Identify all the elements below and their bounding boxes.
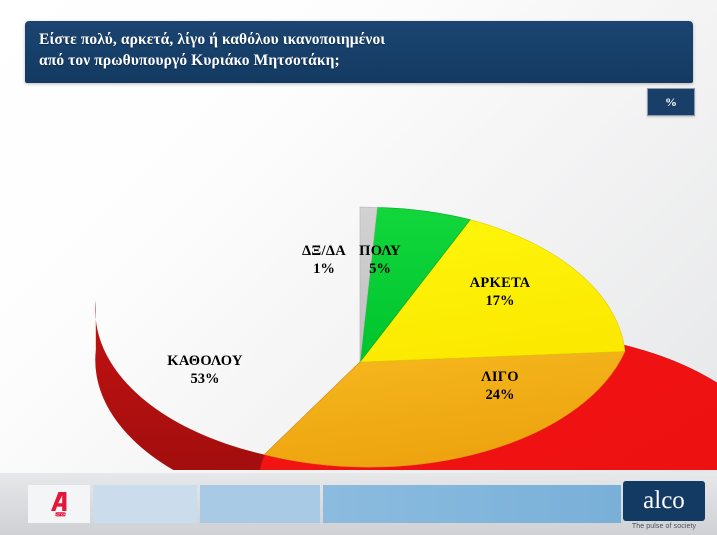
footer-segment-1	[93, 485, 197, 523]
alco-tagline: The pulse of society	[624, 523, 704, 530]
alco-logo: alco	[623, 481, 705, 521]
footer-segment-2	[200, 485, 320, 523]
alco-logo-text: alco	[643, 488, 685, 514]
slice-depth-katholou	[95, 300, 264, 470]
page-title-line-1: Είστε πολύ, αρκετά, λίγο ή καθόλου ικανο…	[39, 29, 693, 50]
pie-chart-svg	[0, 100, 717, 470]
footer-segment-strip: ACTION	[28, 485, 621, 523]
slide-footer: ACTION alco The pulse of society	[0, 473, 717, 535]
svg-text:ACTION: ACTION	[55, 513, 66, 517]
channel-logo-segment: ACTION	[28, 485, 90, 523]
page-title-line-2: από τον πρωθυπουργό Κυριάκο Μητσοτάκη;	[39, 50, 693, 71]
pie-chart: ΚΑΘΟΛΟΥ 53% ΛΙΓΟ 24% ΑΡΚΕΤΑ 17% ΠΟΛΥ 5% …	[0, 100, 717, 470]
action-a-icon: ACTION	[44, 489, 74, 519]
footer-segment-3	[323, 485, 621, 523]
slide-title-banner: Είστε πολύ, αρκετά, λίγο ή καθόλου ικανο…	[25, 21, 693, 83]
poll-slide: Είστε πολύ, αρκετά, λίγο ή καθόλου ικανο…	[0, 0, 717, 535]
